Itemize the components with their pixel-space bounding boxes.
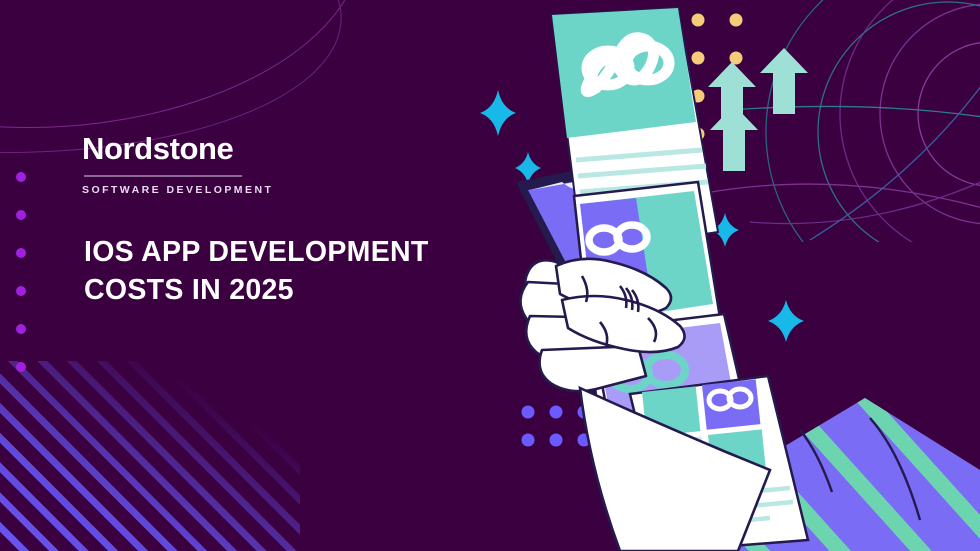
brand-name: Nordstone <box>82 133 412 164</box>
up-arrow-icon <box>760 48 808 114</box>
hero-illustration <box>470 0 980 551</box>
headline-line-1: IOS APP DEVELOPMENT <box>84 236 429 268</box>
sparkle-icon <box>768 300 804 342</box>
brand-divider <box>84 175 242 177</box>
dot <box>16 362 26 372</box>
dot <box>16 324 26 334</box>
dot <box>16 210 26 220</box>
dot <box>16 286 26 296</box>
left-dot-column <box>16 172 26 400</box>
dot <box>16 248 26 258</box>
banner-canvas: Nordstone SOFTWARE DEVELOPMENT IOS APP D… <box>0 0 980 551</box>
top-left-arc-outline <box>0 0 373 148</box>
page-title: IOS APP DEVELOPMENT COSTS IN 2025 <box>84 234 504 309</box>
brand-lockup: Nordstone SOFTWARE DEVELOPMENT <box>82 133 412 196</box>
brand-tagline: SOFTWARE DEVELOPMENT <box>82 184 412 196</box>
dot <box>16 172 26 182</box>
sparkle-icon <box>480 90 516 136</box>
headline-line-2: COSTS IN 2025 <box>84 274 294 306</box>
up-arrow-group <box>708 48 808 171</box>
bottom-left-diagonal-stripes <box>0 361 300 551</box>
up-arrow-icon <box>710 105 758 171</box>
